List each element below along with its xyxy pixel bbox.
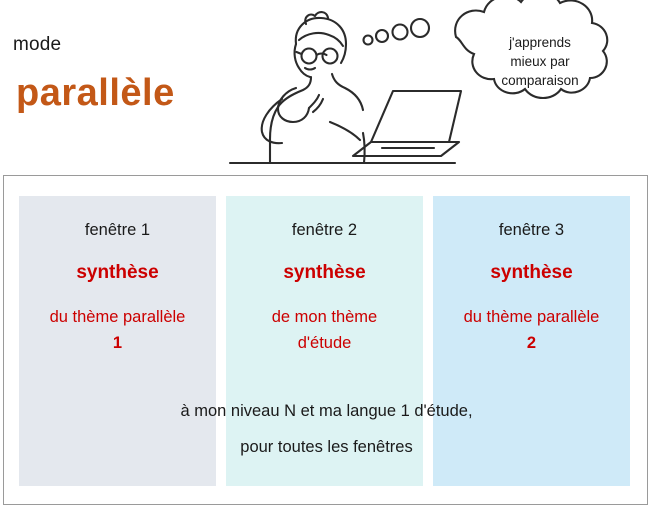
- diagram-canvas: mode parallèle: [0, 0, 657, 515]
- thought-bubble-line-1: j'apprends: [466, 33, 614, 52]
- theme-line-1-col-1: du thème parallèle: [50, 308, 186, 326]
- synthesis-label-2: synthèse: [226, 262, 423, 284]
- synthesis-label-3: synthèse: [433, 262, 630, 284]
- thought-bubble-line-3: comparaison: [466, 71, 614, 90]
- theme-description-3: du thème parallèle 2: [433, 304, 630, 356]
- parallel-mode-diagram-box: fenêtre 1 synthèse du thème parallèle 1 …: [3, 175, 648, 505]
- window-label-3: fenêtre 3: [433, 221, 630, 240]
- theme-description-2: de mon thème d'étude: [226, 304, 423, 356]
- page-title: parallèle: [16, 72, 175, 115]
- window-label-2: fenêtre 2: [226, 221, 423, 240]
- theme-line-1-col-2: de mon thème: [272, 308, 377, 326]
- thought-bubble-text: j'apprends mieux par comparaison: [466, 33, 614, 90]
- theme-description-1: du thème parallèle 1: [19, 304, 216, 356]
- theme-line-2-col-2: d'étude: [298, 334, 352, 352]
- footer-note-line-2: pour toutes les fenêtres: [4, 438, 649, 457]
- thought-bubble-line-2: mieux par: [466, 52, 614, 71]
- synthesis-label-1: synthèse: [19, 262, 216, 284]
- theme-line-1-col-3: du thème parallèle: [464, 308, 600, 326]
- theme-line-2-col-1: 1: [113, 334, 122, 352]
- footer-note-line-1: à mon niveau N et ma langue 1 d'étude,: [4, 402, 649, 421]
- window-label-1: fenêtre 1: [19, 221, 216, 240]
- theme-line-2-col-3: 2: [527, 334, 536, 352]
- page-subtitle: mode: [13, 34, 61, 56]
